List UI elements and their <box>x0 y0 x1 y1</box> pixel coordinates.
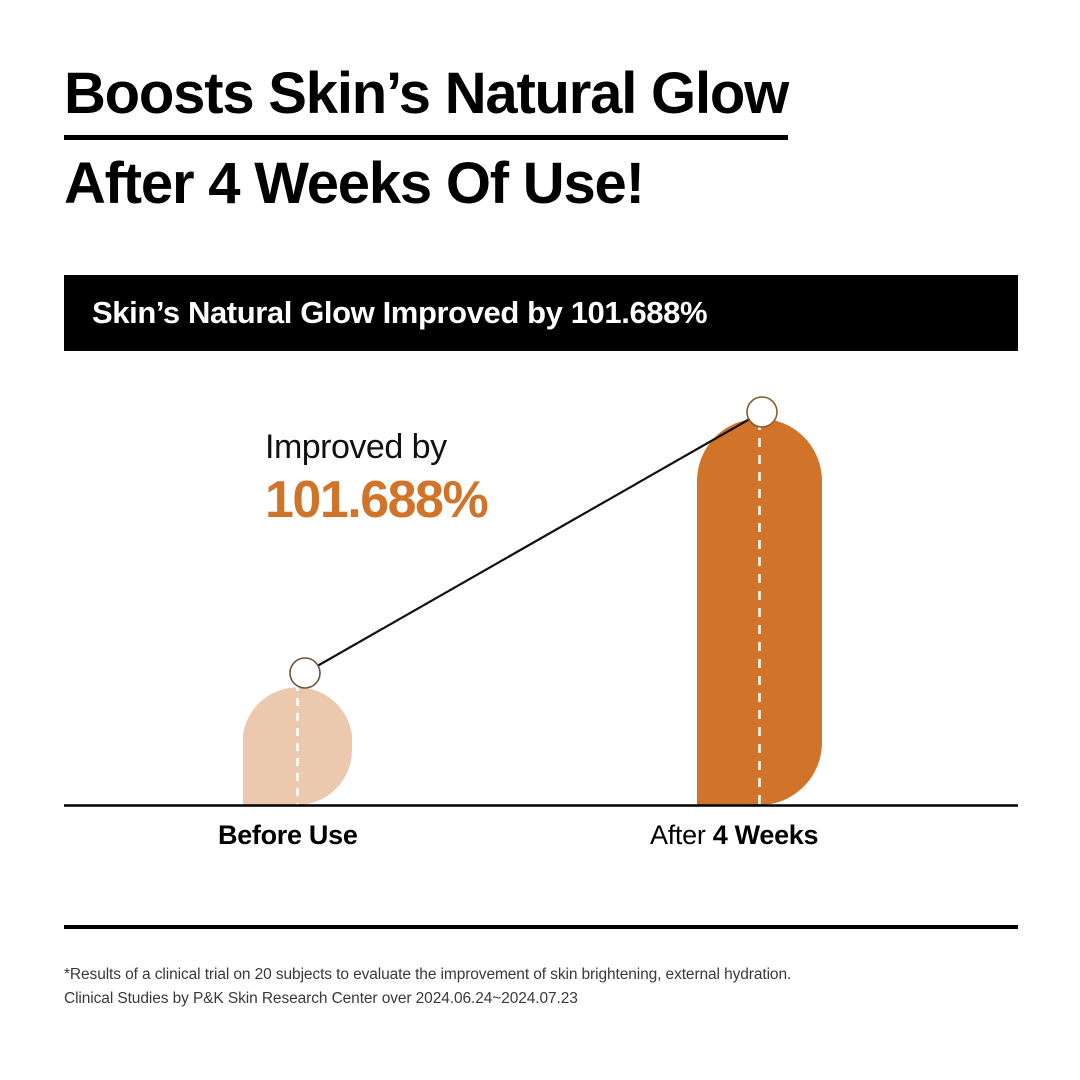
axis-label-after-4-weeks: After 4 Weeks <box>650 820 818 851</box>
footnote-line-1: *Results of a clinical trial on 20 subje… <box>64 963 964 987</box>
marker-before-use <box>290 658 320 688</box>
footnote: *Results of a clinical trial on 20 subje… <box>64 963 964 1011</box>
axis-label-before-use: Before Use <box>218 820 358 851</box>
improvement-annotation: Improved by 101.688% <box>265 428 605 531</box>
footnote-line-2: Clinical Studies by P&K Skin Research Ce… <box>64 987 964 1011</box>
improvement-annotation-label: Improved by <box>265 428 605 467</box>
axis-label-after-prefix: After <box>650 820 713 850</box>
chart-graphics <box>0 0 1080 1080</box>
footer-divider <box>64 925 1018 929</box>
marker-after-4-weeks <box>747 397 777 427</box>
axis-label-after-emphasis: 4 Weeks <box>713 820 818 850</box>
comparison-bar-chart: Improved by 101.688% Before Use After 4 … <box>0 0 1080 1080</box>
improvement-annotation-value: 101.688% <box>265 469 605 531</box>
